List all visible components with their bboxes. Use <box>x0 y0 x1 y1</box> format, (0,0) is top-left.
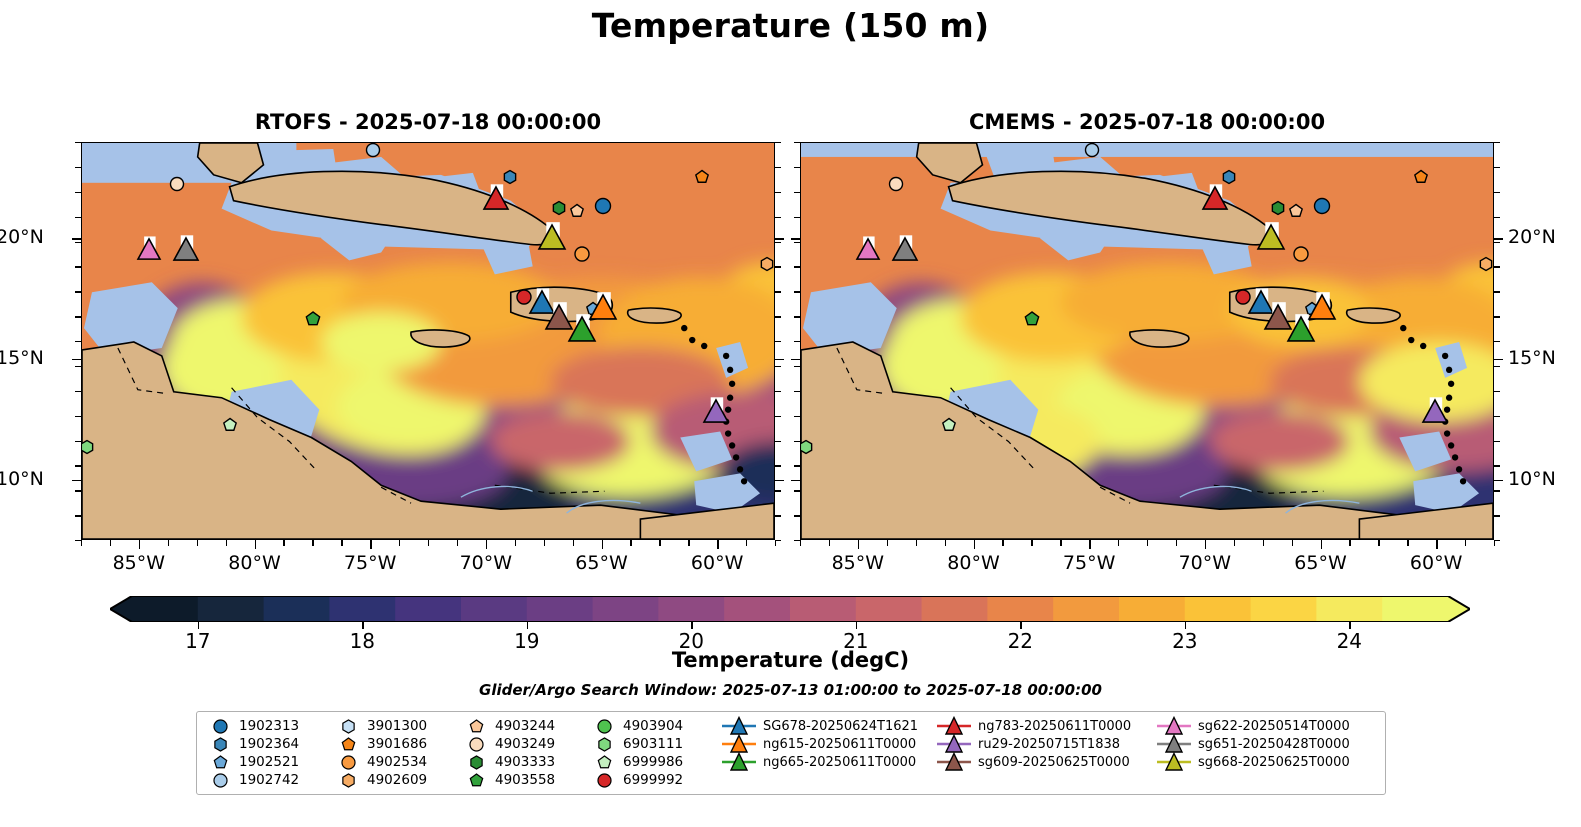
legend-marker-hexagon-icon <box>461 754 491 771</box>
legend-label-3901300: 3901300 <box>363 718 427 734</box>
legend-label-1902742: 1902742 <box>235 772 299 788</box>
xtick-minor <box>486 540 487 546</box>
ytick-minor <box>1494 540 1500 541</box>
legend-label-4903249: 4903249 <box>491 736 555 752</box>
legend-column-argo-4: 4903904690311169999866999992 <box>589 717 717 789</box>
xtick-minor <box>110 540 111 546</box>
legend-label-4902534: 4902534 <box>363 754 427 770</box>
ytick-minor <box>75 167 81 168</box>
xtick-minor <box>858 540 859 546</box>
ytick-minor <box>794 142 800 143</box>
ytick-minor <box>794 416 800 417</box>
xtick-minor <box>1349 540 1350 546</box>
colorbar-tick-22 <box>1020 622 1022 629</box>
xtick-minor <box>1321 540 1322 546</box>
xtick-minor <box>312 540 313 546</box>
legend-label-ng615-20250611T0000: ng615-20250611T0000 <box>761 737 916 752</box>
ytick-minor <box>794 515 800 516</box>
legend-item-4903249[interactable]: 4903249 <box>461 735 589 753</box>
glider-marker-ng615-20250611T0000[interactable] <box>1306 292 1338 322</box>
legend-item-3901686[interactable]: 3901686 <box>333 735 461 753</box>
ytick-minor <box>1494 316 1500 317</box>
argo-marker-6903111[interactable] <box>81 438 95 455</box>
legend-marker-hexagon-icon <box>333 718 363 735</box>
legend-label-sg622-20250514T0000: sg622-20250514T0000 <box>1196 719 1350 734</box>
xtick-minor <box>1205 540 1206 546</box>
ytick-minor <box>1494 366 1500 367</box>
legend-box: 1902313190236419025211902742390130039016… <box>196 711 1386 795</box>
legend-item-1902742[interactable]: 1902742 <box>205 771 333 789</box>
legend-item-ng783-20250611T0000[interactable]: ng783-20250611T0000 <box>932 717 1152 735</box>
legend-label-1902521: 1902521 <box>235 754 299 770</box>
legend-item-1902521[interactable]: 1902521 <box>205 753 333 771</box>
xtick-label-80°W: 80°W <box>210 552 300 574</box>
argo-marker-3901686[interactable] <box>693 168 710 185</box>
legend-marker-pentagon-icon <box>333 736 363 753</box>
glider-marker-ng615-20250611T0000[interactable] <box>587 292 619 322</box>
ytick-15°N <box>72 359 81 360</box>
xtick-label-75°W: 75°W <box>325 552 415 574</box>
legend-item-sg622-20250514T0000[interactable]: sg622-20250514T0000 <box>1152 717 1367 735</box>
xtick-label-85°W: 85°W <box>813 552 903 574</box>
argo-marker-1902742[interactable] <box>365 142 382 159</box>
ytick-15°N <box>775 359 784 360</box>
xtick-minor <box>887 540 888 546</box>
xtick-minor <box>1147 540 1148 546</box>
xtick-minor <box>829 540 830 546</box>
xtick-minor <box>1234 540 1235 546</box>
ytick-minor <box>794 540 800 541</box>
ytick-minor <box>794 291 800 292</box>
argo-marker-4903558[interactable] <box>304 310 322 328</box>
legend-marker-hexagon-icon <box>333 772 363 789</box>
legend-item-ru29-20250715T1838[interactable]: ru29-20250715T1838 <box>932 735 1152 753</box>
ytick-15°N <box>791 359 800 360</box>
argo-marker-6903111[interactable] <box>800 438 814 455</box>
ytick-minor <box>75 490 81 491</box>
ytick-label-right-15°N: 15°N <box>1508 347 1556 369</box>
xtick-minor <box>945 540 946 546</box>
xtick-label-70°W: 70°W <box>441 552 531 574</box>
legend-marker-circle-icon <box>205 718 235 735</box>
legend-column-argo-1: 1902313190236419025211902742 <box>205 717 333 789</box>
ytick-label-left-15°N: 15°N <box>0 347 44 369</box>
panel-title-rtofs: RTOFS - 2025-07-18 00:00:00 <box>81 110 775 134</box>
colorbar-tick-19 <box>527 622 529 629</box>
ytick-minor <box>1494 341 1500 342</box>
legend-marker-circle-icon <box>461 736 491 753</box>
ytick-minor <box>1494 142 1500 143</box>
legend-label-4903333: 4903333 <box>491 754 555 770</box>
xtick-minor <box>916 540 917 546</box>
ytick-minor <box>794 242 800 243</box>
xtick-minor <box>1407 540 1408 546</box>
xtick-minor <box>1118 540 1119 546</box>
xtick-minor <box>139 540 140 546</box>
glider-marker-ru29-20250715T1838[interactable] <box>701 397 731 425</box>
ytick-minor <box>1494 242 1500 243</box>
argo-marker-3901686[interactable] <box>1412 168 1429 185</box>
xtick-minor <box>717 540 718 546</box>
legend-glider-triangle-icon <box>717 716 761 736</box>
legend-label-6999992: 6999992 <box>619 772 683 788</box>
glider-marker-sg622-20250514T0000[interactable] <box>854 236 882 262</box>
legend-label-sg668-20250625T0000: sg668-20250625T0000 <box>1196 755 1350 770</box>
legend-item-4903333[interactable]: 4903333 <box>461 753 589 771</box>
xtick-label-70°W: 70°W <box>1160 552 1250 574</box>
argo-marker-4902534[interactable] <box>573 245 591 263</box>
ytick-label-left-10°N: 10°N <box>0 468 44 490</box>
colorbar-tick-24 <box>1349 622 1351 629</box>
legend-glider-triangle-icon <box>932 716 976 736</box>
ytick-minor <box>75 217 81 218</box>
xtick-minor <box>1292 540 1293 546</box>
map-frame-rtofs[interactable] <box>81 142 775 540</box>
xtick-label-80°W: 80°W <box>929 552 1019 574</box>
ytick-minor <box>775 540 781 541</box>
ytick-minor <box>1494 291 1500 292</box>
legend-marker-pentagon-icon <box>589 754 619 771</box>
xtick-label-65°W: 65°W <box>1276 552 1366 574</box>
ytick-minor <box>775 242 781 243</box>
ytick-minor <box>75 291 81 292</box>
ytick-minor <box>775 291 781 292</box>
legend-glider-triangle-icon <box>1152 716 1196 736</box>
xtick-minor <box>974 540 975 546</box>
xtick-minor <box>457 540 458 546</box>
legend-marker-hexagon-icon <box>589 736 619 753</box>
legend-glider-triangle-icon <box>1152 734 1196 754</box>
legend-label-4903558: 4903558 <box>491 772 555 788</box>
ytick-minor <box>75 391 81 392</box>
argo-marker-1902313[interactable] <box>1312 196 1331 215</box>
ytick-label-right-20°N: 20°N <box>1508 226 1556 248</box>
argo-marker-4903333[interactable] <box>1269 200 1286 217</box>
xtick-minor <box>341 540 342 546</box>
legend-glider-triangle-icon <box>717 752 761 772</box>
ytick-20°N <box>775 238 784 239</box>
legend-item-ng665-20250611T0000[interactable]: ng665-20250611T0000 <box>717 753 932 771</box>
colorbar-tick-21 <box>856 622 858 629</box>
legend-item-6999992[interactable]: 6999992 <box>589 771 717 789</box>
ytick-minor <box>794 316 800 317</box>
xtick-minor <box>746 540 747 546</box>
colorbar-tick-17 <box>198 622 200 629</box>
markers-layer-rtofs <box>82 143 774 539</box>
ytick-minor <box>1494 192 1500 193</box>
panel-title-cmems: CMEMS - 2025-07-18 00:00:00 <box>800 110 1494 134</box>
legend-label-3901686: 3901686 <box>363 736 427 752</box>
legend-column-argo-3: 4903244490324949033334903558 <box>461 717 589 789</box>
colorbar-tick-23 <box>1185 622 1187 629</box>
legend-item-ng615-20250611T0000[interactable]: ng615-20250611T0000 <box>717 735 932 753</box>
ytick-minor <box>794 192 800 193</box>
argo-marker-4903558[interactable] <box>1023 310 1041 328</box>
ytick-minor <box>794 266 800 267</box>
legend-label-ng783-20250611T0000: ng783-20250611T0000 <box>976 719 1131 734</box>
legend-item-4903244[interactable]: 4903244 <box>461 717 589 735</box>
legend-marker-pentagon-icon <box>461 718 491 735</box>
legend-item-SG678-20250624T1621[interactable]: SG678-20250624T1621 <box>717 717 932 735</box>
markers-layer-cmems <box>801 143 1493 539</box>
ytick-minor <box>775 341 781 342</box>
xtick-label-60°W: 60°W <box>1391 552 1481 574</box>
search-window-caption: Glider/Argo Search Window: 2025-07-13 01… <box>0 681 1581 699</box>
ytick-minor <box>794 167 800 168</box>
ytick-minor <box>775 515 781 516</box>
legend-glider-triangle-icon <box>1152 752 1196 772</box>
ytick-minor <box>75 366 81 367</box>
xtick-minor <box>800 540 801 546</box>
xtick-minor <box>544 540 545 546</box>
legend-marker-pentagon-icon <box>205 754 235 771</box>
xtick-minor <box>370 540 371 546</box>
ytick-minor <box>75 242 81 243</box>
legend-marker-circle-icon <box>589 772 619 789</box>
xtick-minor <box>255 540 256 546</box>
legend-column-glider-1: SG678-20250624T1621ng615-20250611T0000ng… <box>717 717 932 789</box>
xtick-minor <box>81 540 82 546</box>
argo-marker-4902609[interactable] <box>1477 255 1494 272</box>
legend-column-glider-2: ng783-20250611T0000ru29-20250715T1838sg6… <box>932 717 1152 789</box>
legend-label-4902609: 4902609 <box>363 772 427 788</box>
ytick-minor <box>1494 441 1500 442</box>
legend-column-glider-3: sg622-20250514T0000sg651-20250428T0000sg… <box>1152 717 1367 789</box>
xtick-minor <box>1436 540 1437 546</box>
argo-marker-4903249[interactable] <box>168 176 185 193</box>
argo-marker-4903249[interactable] <box>887 176 904 193</box>
legend-marker-circle-icon <box>589 718 619 735</box>
legend-marker-hexagon-icon <box>205 736 235 753</box>
ytick-20°N <box>1494 238 1503 239</box>
glider-marker-ru29-20250715T1838[interactable] <box>1420 397 1450 425</box>
ytick-10°N <box>775 480 784 481</box>
legend-item-sg668-20250625T0000[interactable]: sg668-20250625T0000 <box>1152 753 1367 771</box>
ytick-minor <box>75 192 81 193</box>
ytick-minor <box>794 490 800 491</box>
ytick-minor <box>775 465 781 466</box>
legend-item-1902364[interactable]: 1902364 <box>205 735 333 753</box>
ytick-label-left-20°N: 20°N <box>0 226 44 248</box>
glider-marker-sg622-20250514T0000[interactable] <box>135 236 163 262</box>
legend-label-1902364: 1902364 <box>235 736 299 752</box>
legend-item-1902313[interactable]: 1902313 <box>205 717 333 735</box>
xtick-minor <box>168 540 169 546</box>
xtick-minor <box>1263 540 1264 546</box>
argo-marker-1902364[interactable] <box>501 168 518 185</box>
ytick-minor <box>75 540 81 541</box>
ytick-minor <box>775 441 781 442</box>
argo-marker-4903333[interactable] <box>550 200 567 217</box>
ytick-minor <box>794 366 800 367</box>
ytick-minor <box>775 416 781 417</box>
ytick-minor <box>794 465 800 466</box>
map-panel-rtofs: RTOFS - 2025-07-18 00:00:00 85°W80°W75°W… <box>81 142 775 540</box>
xtick-label-65°W: 65°W <box>557 552 647 574</box>
xtick-minor <box>1031 540 1032 546</box>
ytick-minor <box>775 142 781 143</box>
xtick-minor <box>1060 540 1061 546</box>
page-title: Temperature (150 m) <box>0 6 1581 45</box>
colorbar-tick-18 <box>362 622 364 629</box>
ytick-minor <box>1494 490 1500 491</box>
ytick-minor <box>794 217 800 218</box>
xtick-minor <box>630 540 631 546</box>
ytick-minor <box>75 142 81 143</box>
legend-glider-triangle-icon <box>717 734 761 754</box>
ytick-label-right-10°N: 10°N <box>1508 468 1556 490</box>
ytick-minor <box>775 490 781 491</box>
legend-label-4903244: 4903244 <box>491 718 555 734</box>
ytick-minor <box>794 441 800 442</box>
ytick-minor <box>794 341 800 342</box>
ytick-minor <box>75 515 81 516</box>
xtick-minor <box>283 540 284 546</box>
legend-item-4902534[interactable]: 4902534 <box>333 753 461 771</box>
legend-label-sg609-20250625T0000: sg609-20250625T0000 <box>976 755 1130 770</box>
argo-marker-6999986[interactable] <box>222 417 239 434</box>
argo-marker-4902534[interactable] <box>1292 245 1310 263</box>
ytick-minor <box>1494 416 1500 417</box>
ytick-minor <box>1494 515 1500 516</box>
xtick-label-85°W: 85°W <box>94 552 184 574</box>
legend-marker-circle-icon <box>333 754 363 771</box>
legend-label-sg651-20250428T0000: sg651-20250428T0000 <box>1196 737 1350 752</box>
legend-marker-circle-icon <box>205 772 235 789</box>
glider-marker-sg651-20250428T0000[interactable] <box>171 235 201 263</box>
legend-marker-pentagon-icon <box>461 772 491 789</box>
ytick-10°N <box>1494 480 1503 481</box>
colorbar: 1718192021222324 <box>110 596 1470 622</box>
ytick-minor <box>1494 217 1500 218</box>
legend-label-6999986: 6999986 <box>619 754 683 770</box>
legend-item-6999986[interactable]: 6999986 <box>589 753 717 771</box>
legend-glider-triangle-icon <box>932 752 976 772</box>
colorbar-gradient <box>110 596 1470 622</box>
xtick-minor <box>602 540 603 546</box>
glider-marker-sg668-20250625T0000[interactable] <box>1255 222 1287 252</box>
xtick-minor <box>226 540 227 546</box>
legend-label-ru29-20250715T1838: ru29-20250715T1838 <box>976 737 1120 752</box>
ytick-minor <box>75 416 81 417</box>
ytick-minor <box>775 266 781 267</box>
xtick-minor <box>659 540 660 546</box>
legend-item-4903558[interactable]: 4903558 <box>461 771 589 789</box>
map-frame-cmems[interactable] <box>800 142 1494 540</box>
argo-marker-6999986[interactable] <box>941 417 958 434</box>
xtick-minor <box>399 540 400 546</box>
xtick-minor <box>197 540 198 546</box>
xtick-label-60°W: 60°W <box>672 552 762 574</box>
ytick-10°N <box>72 480 81 481</box>
ytick-minor <box>775 192 781 193</box>
map-panel-cmems: CMEMS - 2025-07-18 00:00:00 85°W80°W75°W… <box>800 142 1494 540</box>
ytick-minor <box>794 391 800 392</box>
ytick-minor <box>1494 465 1500 466</box>
colorbar-title: Temperature (degC) <box>0 648 1581 672</box>
ytick-minor <box>75 341 81 342</box>
argo-marker-4903244[interactable] <box>1288 202 1305 219</box>
ytick-20°N <box>72 238 81 239</box>
argo-marker-1902313[interactable] <box>593 196 612 215</box>
legend-item-4903904[interactable]: 4903904 <box>589 717 717 735</box>
legend-label-SG678-20250624T1621: SG678-20250624T1621 <box>761 719 918 734</box>
glider-marker-sg651-20250428T0000[interactable] <box>890 235 920 263</box>
ytick-15°N <box>1494 359 1503 360</box>
ytick-minor <box>1494 167 1500 168</box>
xtick-minor <box>1089 540 1090 546</box>
xtick-minor <box>1465 540 1466 546</box>
ytick-minor <box>1494 391 1500 392</box>
legend-item-6903111[interactable]: 6903111 <box>589 735 717 753</box>
ytick-10°N <box>791 480 800 481</box>
glider-marker-ng783-20250611T0000[interactable] <box>1200 184 1230 212</box>
ytick-20°N <box>791 238 800 239</box>
xtick-minor <box>428 540 429 546</box>
argo-marker-1902364[interactable] <box>1220 168 1237 185</box>
ytick-minor <box>775 391 781 392</box>
legend-label-ng665-20250611T0000: ng665-20250611T0000 <box>761 755 916 770</box>
xtick-minor <box>573 540 574 546</box>
legend-label-6903111: 6903111 <box>619 736 683 752</box>
xtick-label-75°W: 75°W <box>1044 552 1134 574</box>
xtick-minor <box>1378 540 1379 546</box>
ytick-minor <box>775 366 781 367</box>
ytick-minor <box>75 316 81 317</box>
legend-column-argo-2: 3901300390168649025344902609 <box>333 717 461 789</box>
ytick-minor <box>1494 266 1500 267</box>
argo-marker-4903244[interactable] <box>569 202 586 219</box>
legend-label-1902313: 1902313 <box>235 718 299 734</box>
xtick-minor <box>1176 540 1177 546</box>
xtick-minor <box>688 540 689 546</box>
legend-item-4902609[interactable]: 4902609 <box>333 771 461 789</box>
ytick-minor <box>775 167 781 168</box>
colorbar-tick-20 <box>691 622 693 629</box>
xtick-minor <box>1002 540 1003 546</box>
ytick-minor <box>775 316 781 317</box>
ytick-minor <box>75 465 81 466</box>
ytick-minor <box>75 441 81 442</box>
ytick-minor <box>75 266 81 267</box>
glider-marker-ng783-20250611T0000[interactable] <box>481 184 511 212</box>
legend-item-3901300[interactable]: 3901300 <box>333 717 461 735</box>
legend-item-sg651-20250428T0000[interactable]: sg651-20250428T0000 <box>1152 735 1367 753</box>
legend-item-sg609-20250625T0000[interactable]: sg609-20250625T0000 <box>932 753 1152 771</box>
argo-marker-4902609[interactable] <box>758 255 775 272</box>
xtick-minor <box>515 540 516 546</box>
glider-marker-sg668-20250625T0000[interactable] <box>536 222 568 252</box>
argo-marker-1902742[interactable] <box>1084 142 1101 159</box>
ytick-minor <box>775 217 781 218</box>
legend-label-4903904: 4903904 <box>619 718 683 734</box>
legend-glider-triangle-icon <box>932 734 976 754</box>
